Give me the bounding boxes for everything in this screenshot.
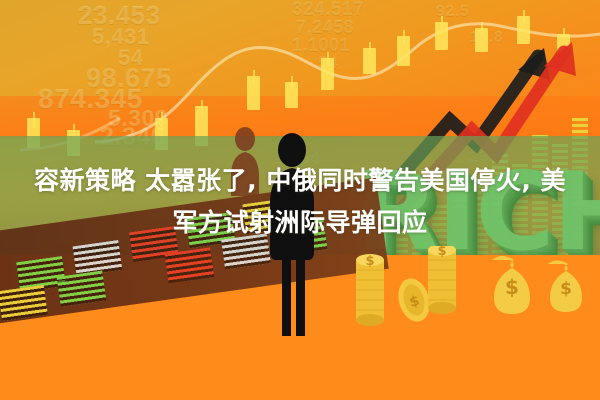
- money-bag-icon: $: [548, 261, 582, 313]
- svg-text:$: $: [560, 279, 572, 299]
- gold-coin-stack-icon: $ $ $ $ $: [352, 246, 600, 356]
- svg-text:$: $: [437, 246, 446, 259]
- headline-line-1: 容新策略 太嚣张了, 中俄同时警告美国停火, 美: [28, 160, 572, 202]
- svg-text:$: $: [365, 254, 374, 269]
- svg-text:$: $: [505, 275, 519, 299]
- headline-text: 容新策略 太嚣张了, 中俄同时警告美国停火, 美 军方试射洲际导弹回应: [0, 160, 600, 244]
- money-bag-icon: $: [492, 256, 530, 314]
- headline-line-2: 军方试射洲际导弹回应: [28, 202, 572, 244]
- poster-canvas: 23.453 5,431 54 98.675 874.345 5.309 2.3…: [0, 0, 600, 400]
